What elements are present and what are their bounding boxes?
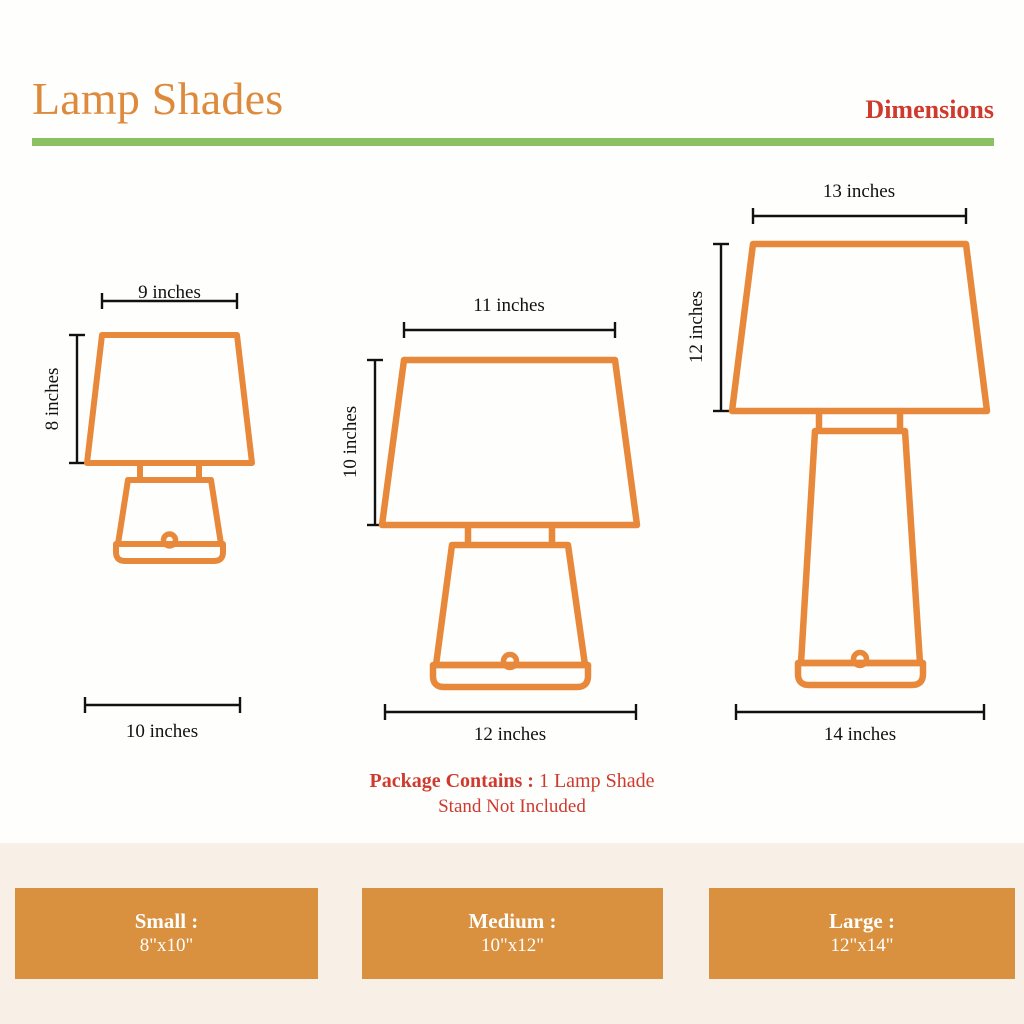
lamp-switch-knob-small: [164, 534, 176, 546]
size-card-small[interactable]: Small : 8"x10": [15, 888, 318, 979]
lamp-base-large: [801, 431, 920, 663]
size-options-bar: Small : 8"x10" Medium : 10"x12" Large : …: [0, 843, 1024, 1024]
lamp-svg-medium: 11 inches 10 inches: [340, 150, 670, 750]
dimension-label-base-small: 10 inches: [126, 721, 198, 742]
header: Lamp Shades Dimensions: [0, 0, 1024, 150]
dimension-line-base-large: [736, 704, 984, 720]
infographic-page: Lamp Shades Dimensions 9 inches: [0, 0, 1024, 1024]
dimension-line-base-medium: [385, 704, 636, 720]
size-card-large[interactable]: Large : 12"x14": [709, 888, 1015, 979]
lamp-svg-large: 13 inches 12 inches: [688, 150, 1024, 750]
page-title: Lamp Shades: [32, 72, 283, 126]
dimension-line-height-medium: [367, 360, 383, 525]
dimension-line-height-large: [713, 244, 729, 411]
lamp-switch-knob-medium: [504, 655, 517, 668]
dimension-line-height-small: [69, 335, 85, 463]
dimension-label-shade-top-medium: 11 inches: [473, 295, 545, 316]
size-card-title: Medium :: [468, 909, 556, 934]
size-card-value: 8"x10": [140, 934, 194, 958]
dimension-label-base-large: 14 inches: [824, 724, 896, 745]
lamp-shade-large: [732, 244, 987, 411]
size-card-value: 10"x12": [481, 934, 544, 958]
package-contains-label: Package Contains :: [370, 770, 534, 792]
lamp-figure-large: 13 inches 12 inches: [688, 150, 1024, 750]
lamp-diagram-area: 9 inches 8 inches: [0, 150, 1024, 770]
package-contains-note: Package Contains : 1 Lamp Shade Stand No…: [0, 768, 1024, 820]
package-contains-line: Package Contains : 1 Lamp Shade: [0, 768, 1024, 794]
lamp-figure-small: 9 inches 8 inches: [30, 280, 290, 750]
lamp-svg-small: 9 inches 8 inches: [30, 280, 290, 750]
lamp-shade-medium: [382, 360, 637, 525]
lamp-base-medium: [436, 545, 585, 665]
size-card-title: Small :: [135, 909, 199, 934]
dimension-label-shade-top-large: 13 inches: [823, 181, 895, 202]
size-card-title: Large :: [829, 909, 895, 934]
dimension-label-height-medium: 10 inches: [340, 406, 361, 478]
size-card-medium[interactable]: Medium : 10"x12": [362, 888, 663, 979]
dimension-line-top-large: [753, 208, 966, 224]
dimension-label-base-medium: 12 inches: [474, 724, 546, 745]
header-subtitle: Dimensions: [865, 95, 994, 125]
dimension-label-height-large: 12 inches: [688, 291, 707, 363]
size-card-value: 12"x14": [830, 934, 893, 958]
dimension-label-shade-top-small: 9 inches: [138, 282, 201, 303]
lamp-shade-small: [87, 335, 252, 463]
lamp-figure-medium: 11 inches 10 inches: [340, 150, 670, 750]
header-divider: [32, 138, 994, 146]
package-contains-value: 1 Lamp Shade: [539, 770, 655, 792]
lamp-switch-knob-large: [854, 653, 867, 666]
dimension-label-height-small: 8 inches: [42, 368, 63, 431]
package-stand-note: Stand Not Included: [0, 794, 1024, 820]
dimension-line-top-medium: [404, 322, 615, 338]
dimension-line-base-small: [85, 697, 240, 713]
